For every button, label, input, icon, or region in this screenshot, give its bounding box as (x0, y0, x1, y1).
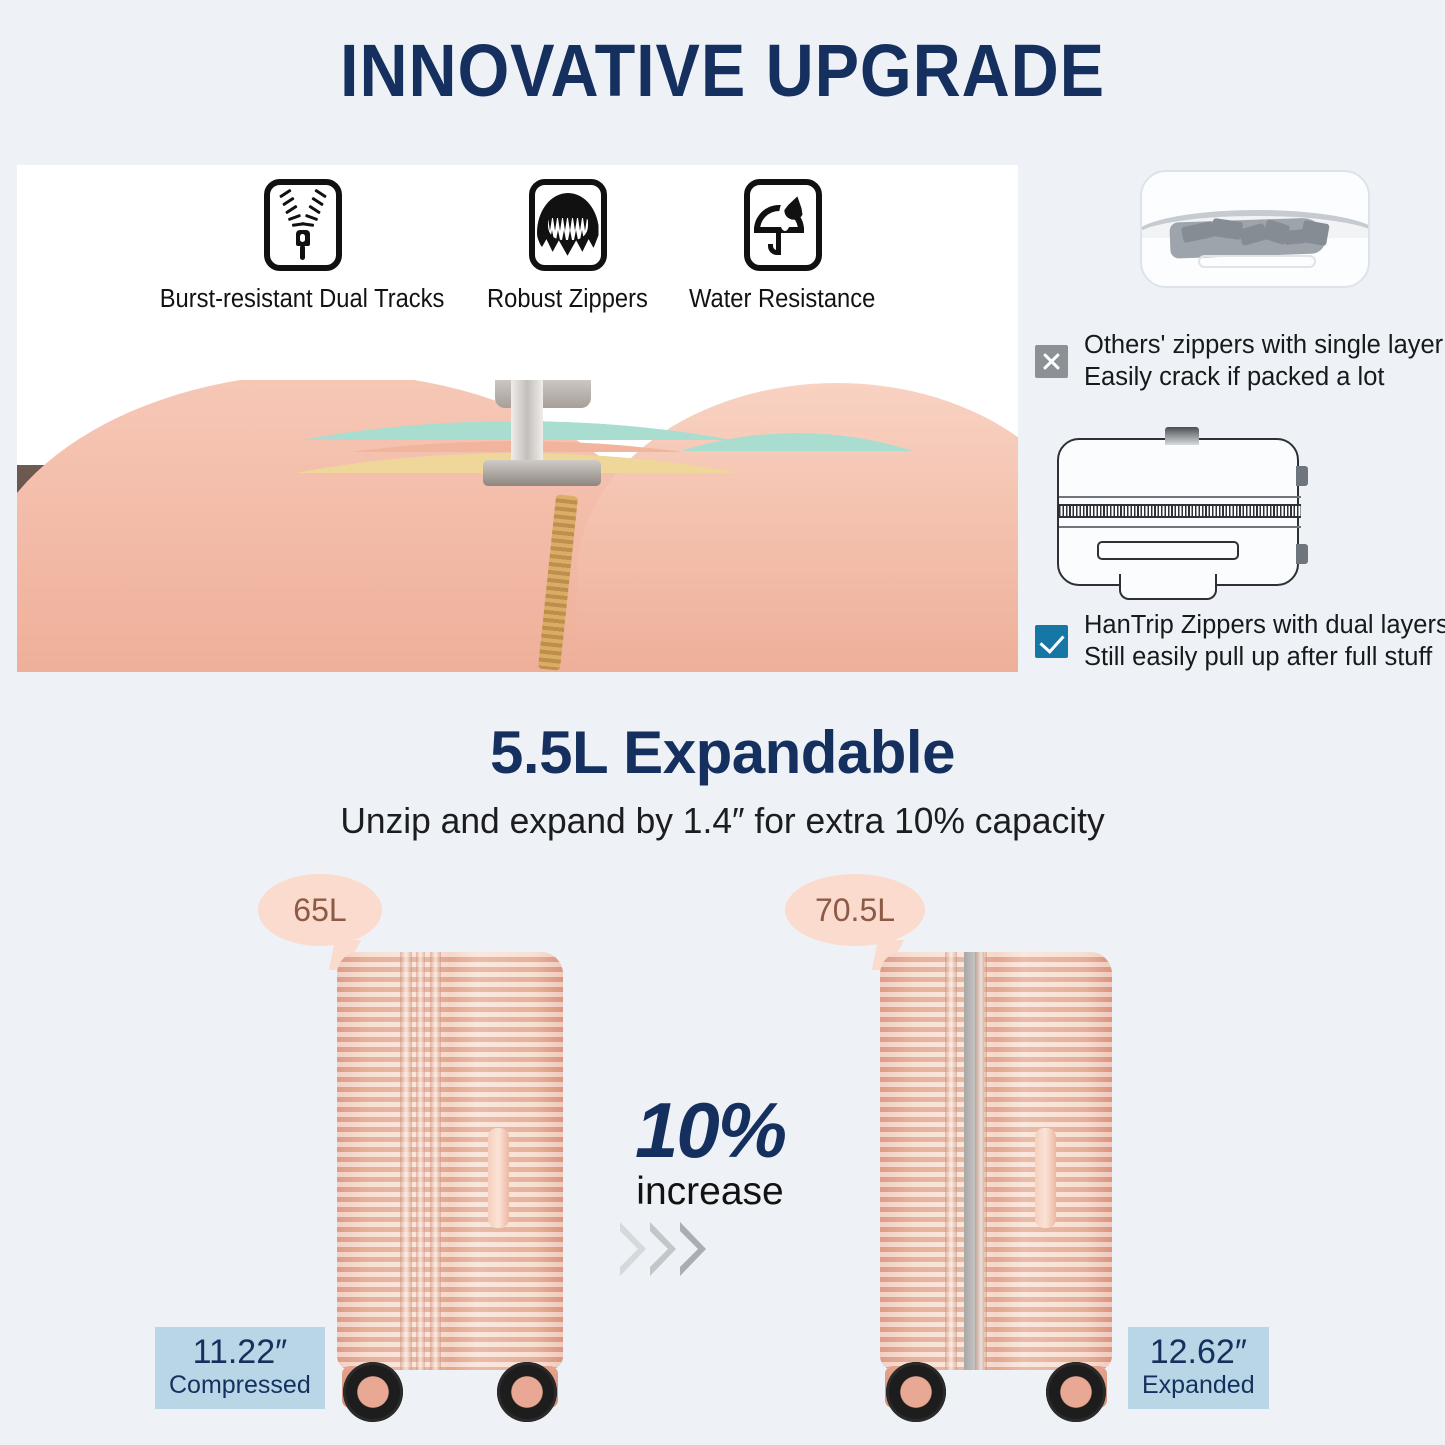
expandable-section-title: 5.5L Expandable (0, 718, 1445, 787)
product-infographic-page: INNOVATIVE UPGRADE (0, 0, 1445, 1445)
capacity-bubble-expanded: 70.5L (785, 874, 925, 946)
percent-increase-value: 10% (600, 1085, 820, 1176)
compressed-suitcase-image (337, 952, 563, 1422)
dimension-value: 11.22″ (169, 1335, 311, 1371)
dimension-value: 12.62″ (1142, 1335, 1255, 1371)
umbrella-water-drop-icon (744, 179, 822, 271)
feature-burst-resistant-dual-tracks: Burst-resistant Dual Tracks (138, 179, 468, 314)
check-mark-icon (1035, 625, 1068, 658)
feature-water-resistance: Water Resistance (668, 179, 898, 314)
zipper-comparison-column: Others' zippers with single layer Easily… (1035, 170, 1445, 290)
x-mark-icon (1035, 345, 1068, 378)
comparison-line-1: HanTrip Zippers with dual layers (1084, 611, 1445, 639)
dimension-label: Expanded (1142, 1371, 1255, 1400)
zipper-icon (264, 179, 342, 271)
comparison-line-1: Others' zippers with single layer (1084, 331, 1443, 359)
comparison-row-hantrip: HanTrip Zippers with dual layers Still e… (1035, 610, 1445, 673)
shark-jaws-icon (529, 179, 607, 271)
photo-zipper-slider-tongue (511, 373, 543, 465)
burst-single-layer-zipper-illustration (1140, 170, 1370, 290)
capacity-bubble-compressed: 65L (258, 874, 382, 946)
comparison-line-2: Still easily pull up after full stuff (1084, 643, 1432, 671)
suitcase-dual-layer-zipper-illustration (1045, 432, 1345, 597)
percent-increase-label: increase (600, 1170, 820, 1214)
comparison-text: Others' zippers with single layer Easily… (1084, 330, 1443, 393)
zipper-photo-panel: Burst-resistant Dual Tracks (17, 165, 1018, 672)
comparison-line-2: Easily crack if packed a lot (1084, 363, 1384, 391)
expandable-section-subtitle: Unzip and expand by 1.4″ for extra 10% c… (22, 800, 1424, 842)
comparison-text: HanTrip Zippers with dual layers Still e… (1084, 610, 1445, 673)
feature-label: Burst-resistant Dual Tracks (160, 285, 445, 314)
feature-icons-row: Burst-resistant Dual Tracks (17, 179, 1018, 314)
feature-robust-zippers: Robust Zippers (468, 179, 668, 314)
triple-chevron-right-icon (620, 1222, 706, 1276)
photo-zipper-slider-base (483, 460, 601, 486)
page-title: INNOVATIVE UPGRADE (72, 28, 1373, 113)
dimension-badge-compressed: 11.22″ Compressed (155, 1327, 325, 1409)
expanded-suitcase-image (880, 952, 1112, 1422)
dimension-label: Compressed (169, 1371, 311, 1400)
dimension-badge-expanded: 12.62″ Expanded (1128, 1327, 1269, 1409)
comparison-row-others: Others' zippers with single layer Easily… (1035, 330, 1443, 393)
feature-label: Robust Zippers (487, 285, 648, 314)
feature-label: Water Resistance (689, 285, 875, 314)
